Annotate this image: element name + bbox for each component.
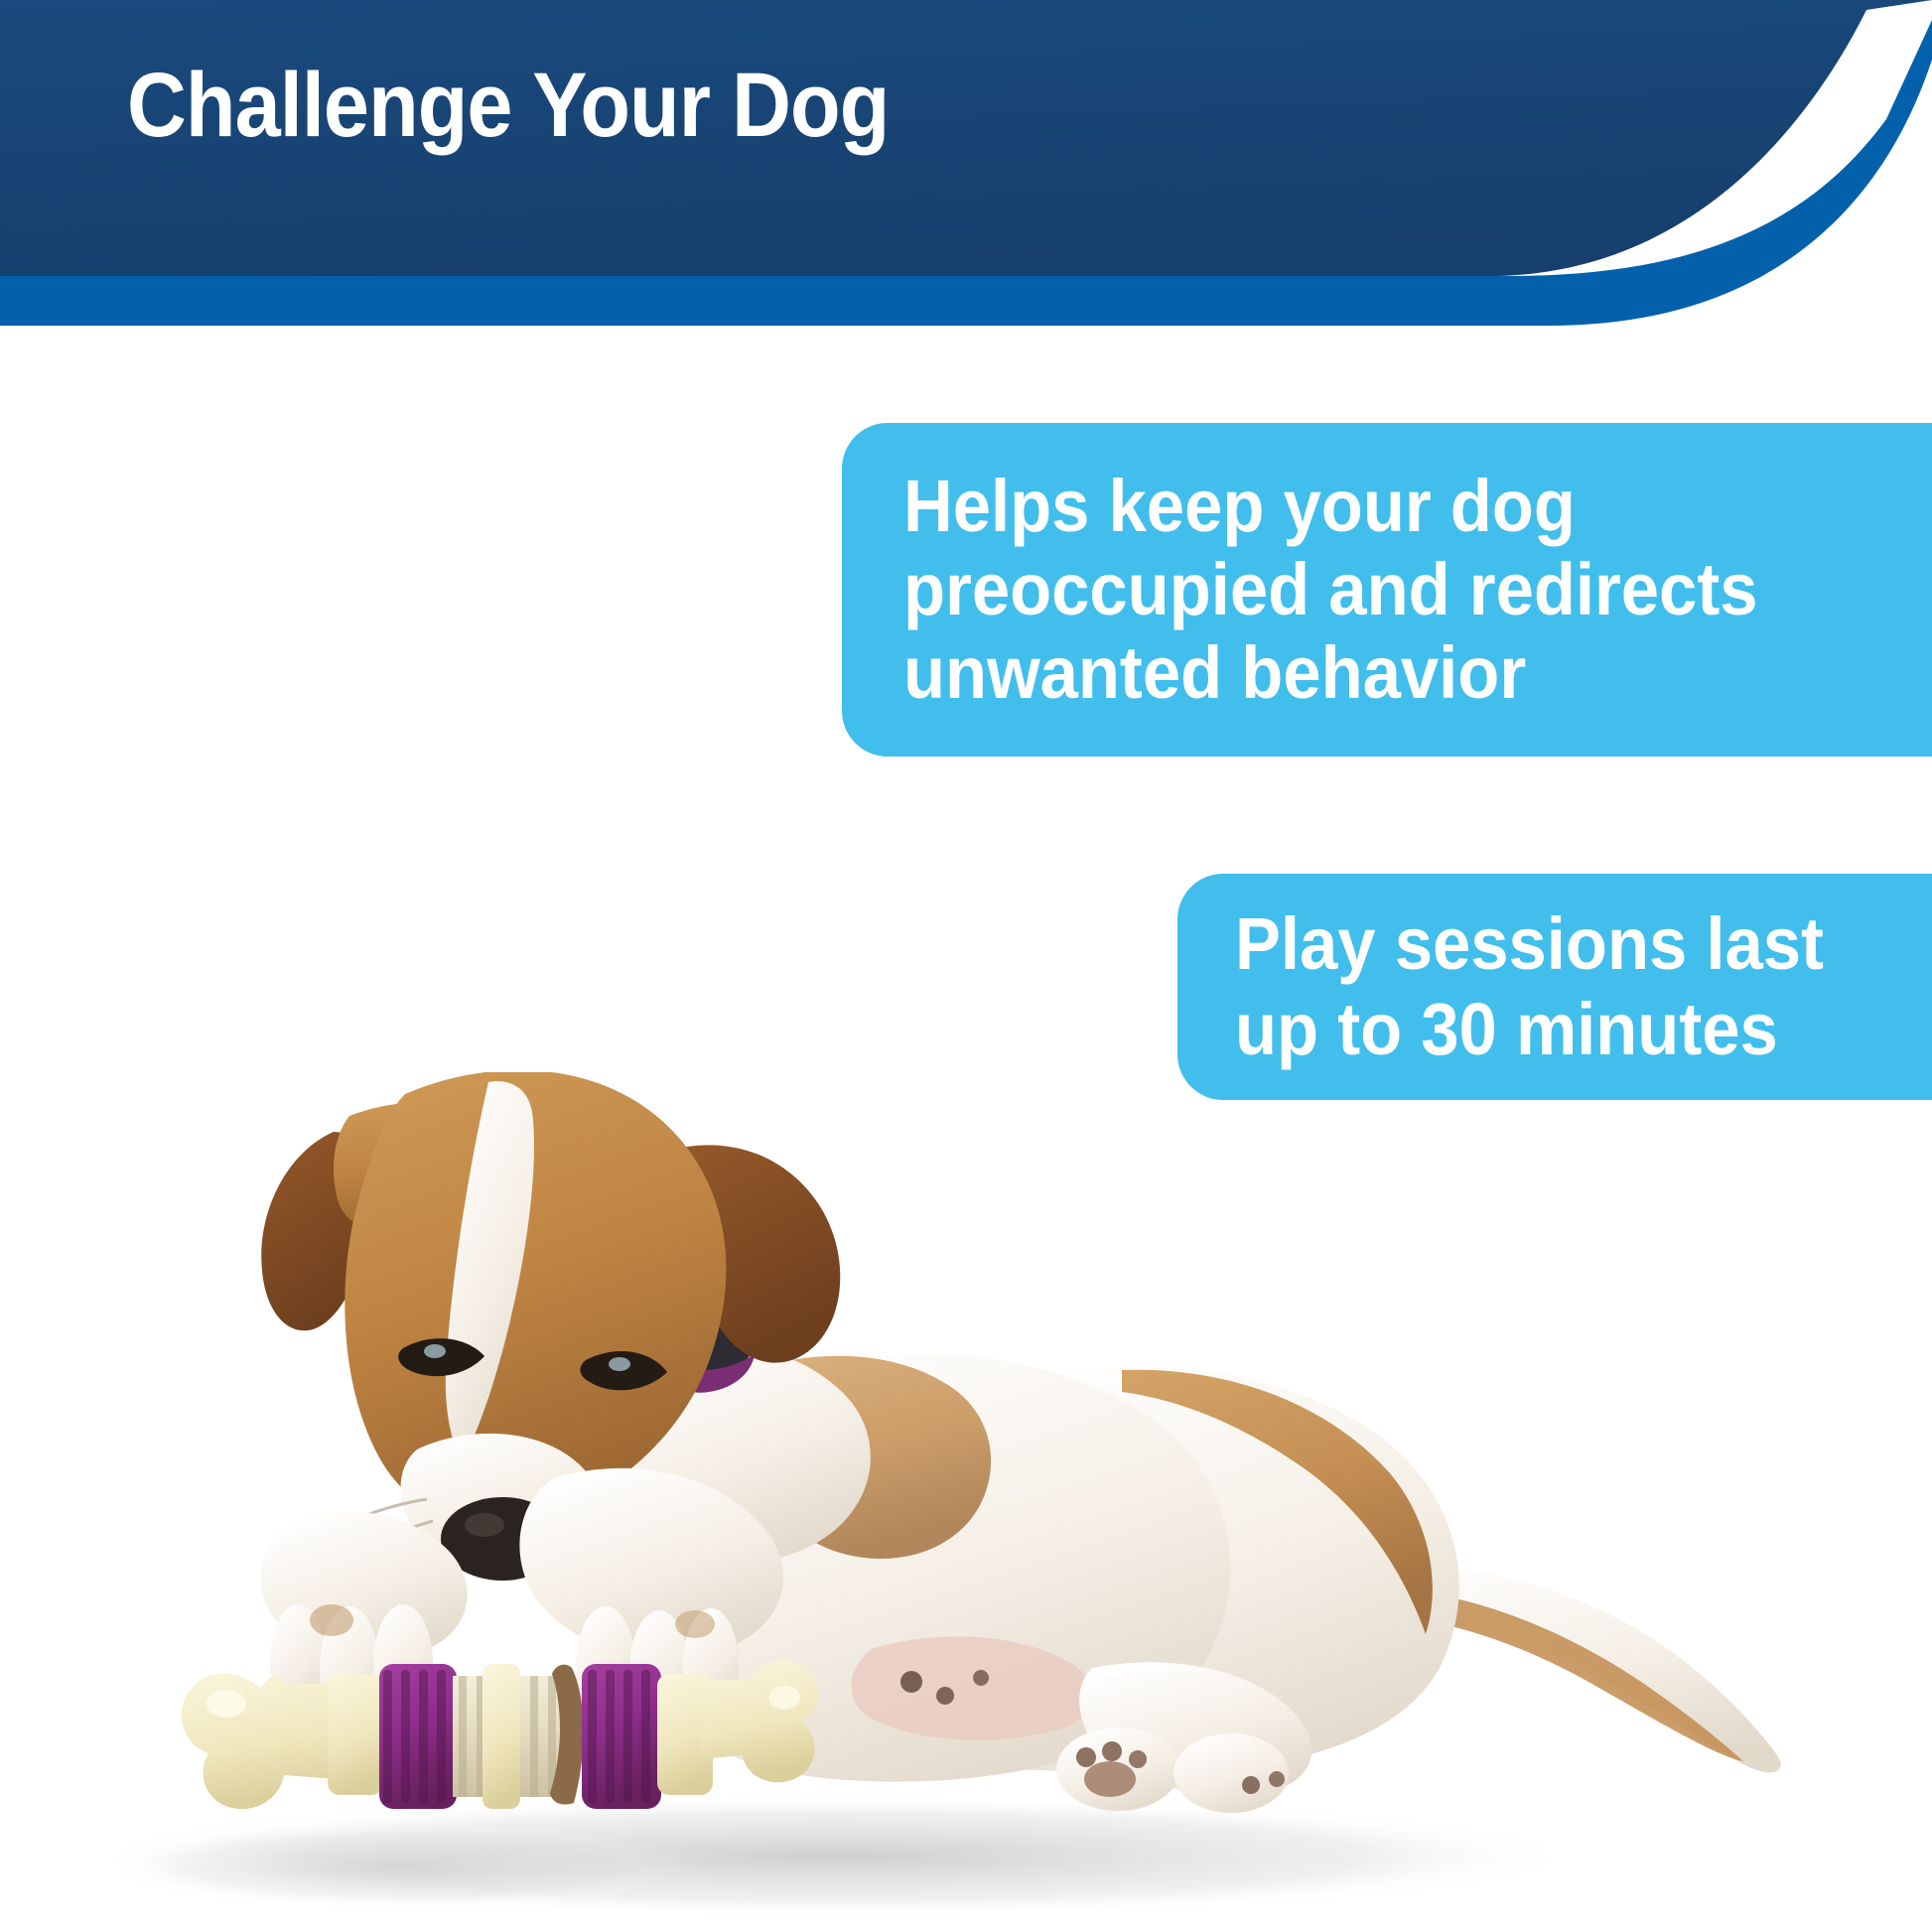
dog-photo-illustration [0,1072,1932,1932]
callout-1-line-2: preoccupied and redirects [903,548,1860,631]
header-banner: Challenge Your Dog [0,0,1932,338]
dog-hind-paw-right [1173,1733,1289,1813]
callout-1-line-3: unwanted behavior [903,631,1860,715]
page-title: Challenge Your Dog [127,58,889,154]
belly-spot [973,1670,989,1686]
header-banner-shape [0,0,1932,338]
paw-pad-toe [1129,1750,1147,1768]
paw-fur-marking [675,1610,715,1638]
dog-eye-right-highlight [609,1357,630,1371]
belly-spot [900,1671,922,1693]
paw-pad-toe [1076,1747,1096,1767]
callout-benefit-2: Play sessions last up to 30 minutes [1177,874,1932,1100]
callout-2-line-1: Play sessions last [1235,901,1883,987]
belly-spot [936,1687,954,1705]
bone-chew-toy [182,1660,818,1809]
bone-end-left [182,1673,338,1809]
toy-shadow [99,1823,695,1910]
callout-benefit-1: Helps keep your dog preoccupied and redi… [842,423,1932,757]
bone-highlight [768,1686,800,1710]
bone-highlight [207,1690,246,1718]
toy-brush-collar [483,1664,520,1809]
paw-pad-main [1084,1761,1136,1797]
dog-nose-highlight [465,1513,504,1537]
dog-photo [0,1072,1932,1932]
paw-pad-toe [1242,1776,1260,1794]
paw-pad-toe [1269,1771,1285,1787]
bone-shaft-left [328,1674,383,1795]
paw-fur-marking [310,1604,353,1636]
paw-pad-toe [1102,1741,1122,1761]
dog-eye-left-highlight [424,1344,446,1358]
callout-1-line-1: Helps keep your dog [903,465,1860,548]
callout-2-line-2: up to 30 minutes [1235,987,1883,1072]
